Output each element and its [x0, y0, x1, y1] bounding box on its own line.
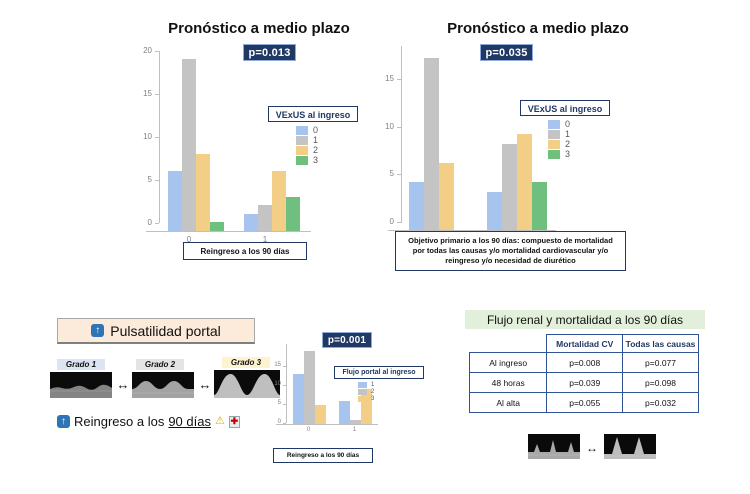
- chart-1-ytick-mark: [155, 223, 159, 224]
- chart-3-bar-g0-s0: [293, 374, 304, 424]
- chart-1-x-caption: Reingreso a los 90 días: [183, 242, 307, 260]
- chart-1-bar-g0-s0: [168, 171, 182, 231]
- legend-item: 0: [296, 126, 318, 135]
- legend-swatch-0: [296, 126, 308, 135]
- chart-1-bar-g0-s1: [182, 59, 196, 231]
- row-label-al-alta: Al alta: [470, 393, 547, 413]
- up-arrow-icon: ↑: [91, 324, 104, 337]
- chart-3-x-axis: [276, 424, 378, 425]
- chart-2-bar-g1-s0: [487, 192, 502, 230]
- legend-swatch-2: [296, 146, 308, 155]
- chart-2-legend-title: VExUS al ingreso: [520, 100, 610, 116]
- arrow-grade1-grade2: ↔: [115, 378, 131, 391]
- chart-3-bar-g0-s1: [304, 351, 315, 424]
- chart-1-group-1-bars: [244, 53, 300, 231]
- chart-1-bar-g1-s2: [272, 171, 286, 231]
- chart-1-ytick-5: 5: [132, 175, 152, 184]
- legend-item: 3: [358, 396, 374, 402]
- chart-1-ytick-mark: [155, 137, 159, 138]
- legend-label-1: 1: [371, 382, 374, 388]
- legend-swatch-1: [358, 382, 367, 388]
- cell-al-ingreso-all: p=0.077: [623, 353, 699, 373]
- doppler-grado-1: [50, 372, 112, 398]
- chart-3-bar-g1-s0: [339, 401, 350, 424]
- row-label-al-ingreso: Al ingreso: [470, 353, 547, 373]
- up-arrow-icon: ↑: [57, 415, 70, 428]
- chart-3-ytick-mark: [283, 385, 286, 386]
- chart-2-group-1-bars: [487, 50, 547, 230]
- chart-2-bar-g0-s0: [409, 182, 424, 230]
- chart-1-bar-g1-s0: [244, 214, 258, 231]
- cell-48-horas-all: p=0.098: [623, 373, 699, 393]
- chart-2-x-caption: Objetivo primario a los 90 días: compues…: [395, 231, 626, 271]
- chart-1-ytick-mark: [155, 94, 159, 95]
- legend-swatch-1: [296, 136, 308, 145]
- cell-48-horas-cv: p=0.039: [547, 373, 623, 393]
- legend-item: 1: [548, 130, 570, 139]
- chart-3-legend-items: 1 2 3: [358, 382, 374, 402]
- chart-3-xtick-1: 1: [349, 427, 360, 433]
- legend-label-3: 3: [313, 156, 318, 165]
- chart-1-ytick-10: 10: [132, 132, 152, 141]
- legend-label-0: 0: [313, 126, 318, 135]
- chart-2-ytick-mark: [397, 127, 401, 128]
- legend-label-0: 0: [565, 120, 570, 129]
- legend-item: 3: [548, 150, 570, 159]
- pulsatility-banner-label: Pulsatilidad portal: [110, 323, 221, 339]
- chart-1-x-axis: [146, 231, 311, 232]
- doppler-waveform-2: [132, 372, 194, 398]
- chart-3-group-0-bars: [293, 342, 326, 424]
- slide-canvas: Pronóstico a medio plazo p=0.013 0 5 10 …: [0, 0, 750, 494]
- chart-1-ytick-mark: [155, 51, 159, 52]
- hospital-icon: ✚: [229, 416, 240, 428]
- legend-swatch-3: [548, 150, 560, 159]
- legend-label-3: 3: [371, 396, 374, 402]
- chart-2-group-0-bars: [409, 50, 469, 230]
- legend-label-1: 1: [565, 130, 570, 139]
- cell-al-alta-all: p=0.032: [623, 393, 699, 413]
- chart-1-bar-g1-s1: [258, 205, 272, 231]
- chart-2-ytick-mark: [397, 174, 401, 175]
- chart-3-y-axis: [286, 344, 287, 423]
- grade-1-label: Grado 1: [57, 359, 105, 370]
- legend-label-1: 1: [313, 136, 318, 145]
- chart-1-bar-g0-s2: [196, 154, 210, 231]
- chart-1-ytick-15: 15: [132, 89, 152, 98]
- chart-3-ytick-15: 15: [266, 362, 281, 368]
- chart-3-ytick-10: 10: [266, 381, 281, 387]
- chart-1-legend-title: VExUS al ingreso: [268, 106, 358, 122]
- grade-2-label: Grado 2: [136, 359, 184, 370]
- row-label-48-horas: 48 horas: [470, 373, 547, 393]
- legend-item: 3: [296, 156, 318, 165]
- legend-swatch-2: [358, 389, 367, 395]
- chart-3-x-caption: Reingreso a los 90 días: [273, 448, 373, 463]
- chart-1-legend-items: 0 1 2 3: [296, 126, 318, 165]
- chart-2-bar-g0-s2: [439, 163, 454, 230]
- chart-3-bar-g0-s2: [315, 405, 326, 424]
- grade-3-label: Grado 3: [222, 357, 270, 368]
- legend-label-2: 2: [371, 389, 374, 395]
- chart-1-bar-g1-s3: [286, 197, 300, 231]
- chart-1-ytick-20: 20: [132, 46, 152, 55]
- arrow-renal: ↔: [584, 442, 600, 454]
- warning-icon: ⚠: [215, 416, 225, 427]
- reingreso-text: Reingreso a los: [74, 414, 164, 429]
- cell-al-alta-cv: p=0.055: [547, 393, 623, 413]
- legend-label-3: 3: [565, 150, 570, 159]
- chart-1-bar-g0-s3: [210, 222, 224, 231]
- reingreso-note: ↑ Reingreso a los 90 días ⚠ ✚: [57, 414, 240, 429]
- table-header-row: Mortalidad CV Todas las causas: [470, 335, 699, 353]
- legend-swatch-1: [548, 130, 560, 139]
- chart-2-title: Pronóstico a medio plazo: [425, 20, 651, 37]
- chart-1-ytick-mark: [155, 180, 159, 181]
- table-row: Al alta p=0.055 p=0.032: [470, 393, 699, 413]
- chart-2-bar-g1-s2: [517, 134, 532, 230]
- legend-swatch-3: [358, 396, 367, 402]
- table-header-mortalidad-cv: Mortalidad CV: [547, 335, 623, 353]
- chart-3-ytick-5: 5: [266, 400, 281, 406]
- legend-label-2: 2: [565, 140, 570, 149]
- legend-item: 0: [548, 120, 570, 129]
- legend-swatch-0: [548, 120, 560, 129]
- chart-2-ytick-5: 5: [374, 169, 394, 178]
- chart-2-ytick-mark: [397, 222, 401, 223]
- chart-1-y-axis: [159, 51, 160, 223]
- legend-item: 1: [296, 136, 318, 145]
- chart-2-bar-g0-s1: [424, 58, 439, 230]
- doppler-renal-left: [528, 434, 580, 459]
- chart-3-ytick-mark: [283, 404, 286, 405]
- legend-swatch-2: [548, 140, 560, 149]
- doppler-waveform-renal-2: [604, 434, 656, 459]
- legend-swatch-3: [296, 156, 308, 165]
- chart-1-title: Pronóstico a medio plazo: [146, 20, 372, 37]
- chart-2-bar-g1-s3: [532, 182, 547, 230]
- table-corner-cell: [470, 335, 547, 353]
- chart-2-plot: 0 5 10 15 0 1: [382, 44, 562, 239]
- chart-3-ytick-mark: [283, 366, 286, 367]
- chart-2-ytick-0: 0: [374, 217, 394, 226]
- pulsatility-banner: ↑ Pulsatilidad portal: [57, 318, 255, 344]
- chart-2-ytick-15: 15: [374, 74, 394, 83]
- chart-3-xtick-0: 0: [303, 427, 314, 433]
- legend-item: 2: [296, 146, 318, 155]
- chart-1-plot: 0 5 10 15 20 0 1: [140, 46, 315, 241]
- chart-2-y-axis: [401, 46, 402, 223]
- doppler-renal-right: [604, 434, 656, 459]
- cell-al-ingreso-cv: p=0.008: [547, 353, 623, 373]
- reingreso-days: 90 días: [168, 414, 211, 429]
- chart-3-ytick-mark: [283, 423, 286, 424]
- chart-3-ytick-0: 0: [266, 419, 281, 425]
- table-header-todas-las-causas: Todas las causas: [623, 335, 699, 353]
- chart-1-group-0-bars: [168, 53, 224, 231]
- chart-2-bar-g1-s1: [502, 144, 517, 230]
- legend-item: 2: [358, 389, 374, 395]
- doppler-waveform-renal-1: [528, 434, 580, 459]
- legend-item: 2: [548, 140, 570, 149]
- chart-3-legend-title: Flujo portal al ingreso: [334, 366, 424, 379]
- renal-pvalue-table: Mortalidad CV Todas las causas Al ingres…: [469, 334, 699, 413]
- doppler-grado-2: [132, 372, 194, 398]
- table-row: Al ingreso p=0.008 p=0.077: [470, 353, 699, 373]
- chart-3-bar-g1-s1: [350, 420, 361, 424]
- chart-2-ytick-10: 10: [374, 122, 394, 131]
- legend-label-2: 2: [313, 146, 318, 155]
- arrow-grade2-grade3: ↔: [197, 378, 213, 391]
- legend-item: 1: [358, 382, 374, 388]
- renal-banner: Flujo renal y mortalidad a los 90 días: [465, 310, 705, 329]
- doppler-waveform-1: [50, 372, 112, 398]
- chart-2-legend-items: 0 1 2 3: [548, 120, 570, 159]
- table-row: 48 horas p=0.039 p=0.098: [470, 373, 699, 393]
- chart-2-ytick-mark: [397, 79, 401, 80]
- chart-1-ytick-0: 0: [132, 218, 152, 227]
